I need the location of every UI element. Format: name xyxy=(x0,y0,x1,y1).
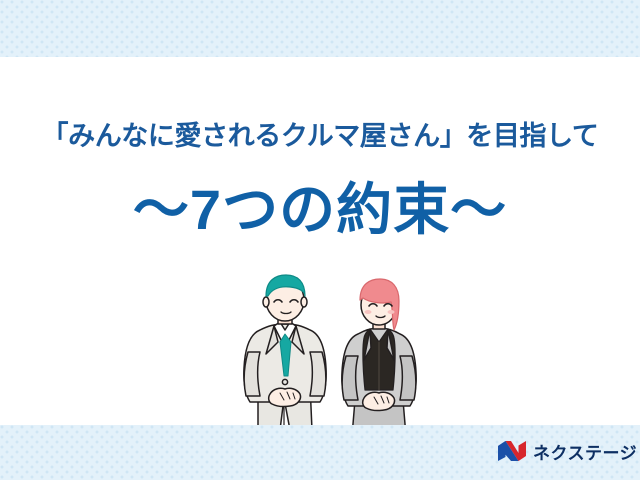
nextage-logo: ネクステージ xyxy=(497,440,637,467)
slide-canvas: 「みんなに愛されるクルマ屋さん」を目指して ～7つの約束～ xyxy=(0,0,640,480)
figure-businessman xyxy=(244,275,326,430)
nextage-logo-text: ネクステージ xyxy=(533,445,637,462)
top-dotted-band xyxy=(0,0,640,57)
headline-primary: 「みんなに愛されるクルマ屋さん」を目指して xyxy=(0,122,640,152)
headline-secondary: ～7つの約束～ xyxy=(0,178,640,242)
figure-businesswoman xyxy=(342,279,416,430)
nextage-n-logo-icon xyxy=(497,440,527,467)
two-people-bowing-illustration xyxy=(240,272,430,430)
